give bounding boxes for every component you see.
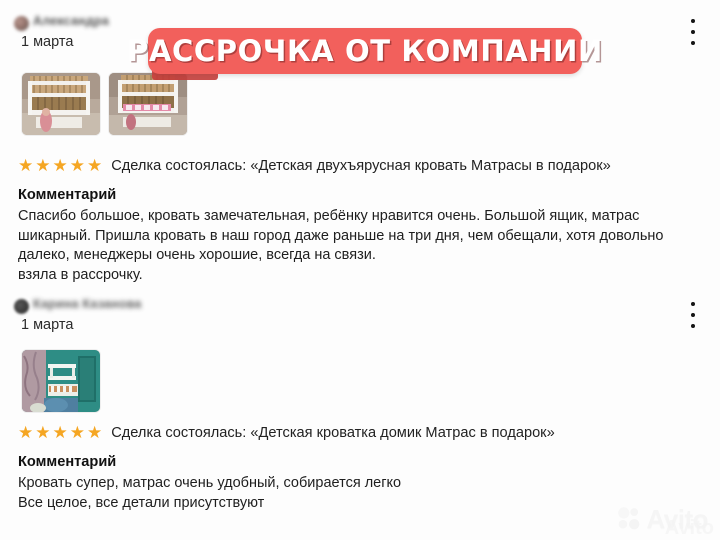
- comment-label: Комментарий: [18, 187, 116, 203]
- comment-line: Спасибо большое, кровать замечательная, …: [18, 207, 708, 227]
- promo-banner: РАССРОЧКА ОТ КОМПАНИИ: [148, 28, 582, 74]
- deal-title: Сделка состоялась: «Детская двухъярусная…: [111, 158, 611, 174]
- star-icon: ★: [53, 424, 68, 441]
- star-icon: ★: [18, 157, 33, 174]
- house-bed-photo: [22, 350, 100, 412]
- review-photo-gallery: [22, 73, 187, 135]
- star-icon: ★: [70, 424, 85, 441]
- review-author-name: Александра: [33, 14, 109, 28]
- review-photo-thumbnail[interactable]: [22, 350, 100, 412]
- comment-line: Все целое, все детали присутствуют: [18, 494, 708, 514]
- comment-line: шикарный. Пришла кровать в наш город даж…: [18, 227, 708, 247]
- promo-banner-text: РАССРОЧКА ОТ КОМПАНИИ: [127, 34, 603, 68]
- kebab-dot: [691, 30, 695, 34]
- review-rating-row: ★ ★ ★ ★ ★ Сделка состоялась: «Детская дв…: [18, 157, 611, 174]
- review-photo-gallery: [22, 350, 100, 412]
- avatar: [14, 299, 29, 314]
- review-photo-thumbnail[interactable]: [22, 73, 100, 135]
- kebab-dot: [691, 313, 695, 317]
- star-rating: ★ ★ ★ ★ ★: [18, 424, 102, 441]
- avito-logo-icon: [616, 506, 642, 532]
- kebab-dot: [691, 19, 695, 23]
- kebab-menu-icon[interactable]: [686, 302, 700, 328]
- deal-title: Сделка состоялась: «Детская кроватка дом…: [111, 425, 554, 441]
- review-author-name: Карина Казанова: [33, 297, 142, 311]
- review-date: 1 марта: [21, 34, 73, 50]
- star-icon: ★: [87, 157, 102, 174]
- star-icon: ★: [70, 157, 85, 174]
- comment-label: Комментарий: [18, 454, 116, 470]
- star-icon: ★: [53, 157, 68, 174]
- star-icon: ★: [87, 424, 102, 441]
- reviews-page: Александра 1 марта: [0, 0, 720, 540]
- kebab-dot: [691, 41, 695, 45]
- star-icon: ★: [35, 424, 50, 441]
- star-icon: ★: [35, 157, 50, 174]
- kebab-dot: [691, 302, 695, 306]
- comment-text: Кровать супер, матрас очень удобный, соб…: [18, 474, 708, 513]
- comment-line: взяла в рассрочку.: [18, 266, 708, 286]
- kebab-dot: [691, 324, 695, 328]
- bunk-bed-photo-2: [109, 73, 187, 135]
- kebab-menu-icon[interactable]: [686, 19, 700, 45]
- review-rating-row: ★ ★ ★ ★ ★ Сделка состоялась: «Детская кр…: [18, 424, 555, 441]
- comment-text: Спасибо большое, кровать замечательная, …: [18, 207, 708, 285]
- review-card: Карина Казанова 1 марта: [0, 297, 720, 317]
- review-photo-thumbnail[interactable]: [109, 73, 187, 135]
- avatar: [14, 16, 29, 31]
- star-rating: ★ ★ ★ ★ ★: [18, 157, 102, 174]
- star-icon: ★: [18, 424, 33, 441]
- review-date: 1 марта: [21, 317, 73, 333]
- review-header: Карина Казанова 1 марта: [0, 297, 720, 317]
- avito-watermark-ghost: Avito: [665, 517, 714, 540]
- bunk-bed-photo-1: [22, 73, 100, 135]
- comment-line: далеко, менеджеры очень хорошие, всегда …: [18, 246, 708, 266]
- comment-line: Кровать супер, матрас очень удобный, соб…: [18, 474, 708, 494]
